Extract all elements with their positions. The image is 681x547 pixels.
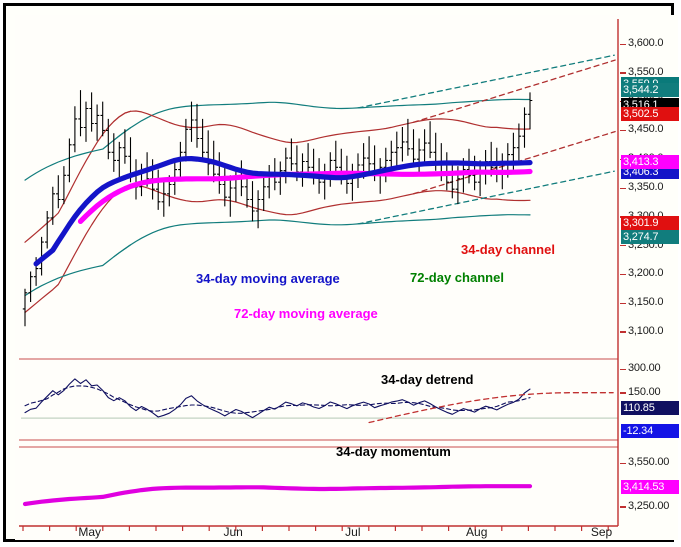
momentum-axis-tick-1: 3,250.00: [628, 500, 669, 512]
annotation-72-day-moving-average: 72-day moving average: [234, 306, 378, 321]
x-axis-month-jun: Jun: [223, 525, 242, 539]
annotation-34-day-channel: 34-day channel: [461, 242, 555, 257]
axis-tick-mark: [620, 274, 626, 275]
chart-frame: Gold, Daily 3,600.03,550.03,500.03,450.0…: [3, 3, 674, 542]
annotation-34-day-detrend: 34-day detrend: [381, 372, 473, 387]
x-axis-month-may: May: [78, 525, 101, 539]
axis-tick-mark: [620, 245, 626, 246]
price-axis-tick-0: 3,600.0: [628, 37, 663, 49]
x-axis-month-aug: Aug: [466, 525, 487, 539]
chart-screenshot: Gold, Daily 3,600.03,550.03,500.03,450.0…: [0, 0, 681, 547]
axis-tick-mark: [620, 188, 626, 189]
momentum-axis-tick-0: 3,550.00: [628, 456, 669, 468]
detrend-axis-tick-1: 150.00: [628, 386, 660, 398]
price-axis-tick-9: 3,150.0: [628, 296, 663, 308]
channel72-upper-tag: 3,544.2: [621, 83, 679, 97]
channel34-upper-tag: 3,502.5: [621, 107, 679, 121]
detrend-value-tag: 110.85: [621, 401, 679, 415]
annotation-72-day-channel: 72-day channel: [410, 270, 504, 285]
axis-tick-mark: [620, 44, 626, 45]
price-axis-tick-3: 3,450.0: [628, 123, 663, 135]
price-axis-tick-8: 3,200.0: [628, 267, 663, 279]
detrend-zero-tag: -12.34: [621, 424, 679, 438]
price-axis-column: 3,600.03,550.03,500.03,450.03,400.03,350…: [620, 15, 678, 540]
x-axis-month-jul: Jul: [345, 525, 360, 539]
channel34-lower-tag: 3,301.9: [621, 216, 679, 230]
axis-tick-mark: [620, 506, 626, 507]
ma72-tag: 3,413.3: [621, 155, 679, 169]
channel72-lower-tag: 3,274.7: [621, 230, 679, 244]
axis-tick-mark: [620, 331, 626, 332]
axis-tick-mark: [620, 72, 626, 73]
axis-tick-mark: [620, 130, 626, 131]
price-axis-tick-10: 3,100.0: [628, 325, 663, 337]
axis-tick-mark: [620, 392, 626, 393]
axis-tick-mark: [620, 369, 626, 370]
detrend-axis-tick-0: 300.00: [628, 362, 660, 374]
annotation-34-day-momentum: 34-day momentum: [336, 444, 451, 459]
price-axis-tick-5: 3,350.0: [628, 181, 663, 193]
x-axis-month-sep: Sep: [591, 525, 612, 539]
axis-tick-mark: [620, 463, 626, 464]
axis-tick-mark: [620, 303, 626, 304]
annotation-34-day-moving-average: 34-day moving average: [196, 271, 340, 286]
momentum-value-tag: 3,414.53: [621, 480, 679, 494]
price-axis-tick-1: 3,550.0: [628, 66, 663, 78]
